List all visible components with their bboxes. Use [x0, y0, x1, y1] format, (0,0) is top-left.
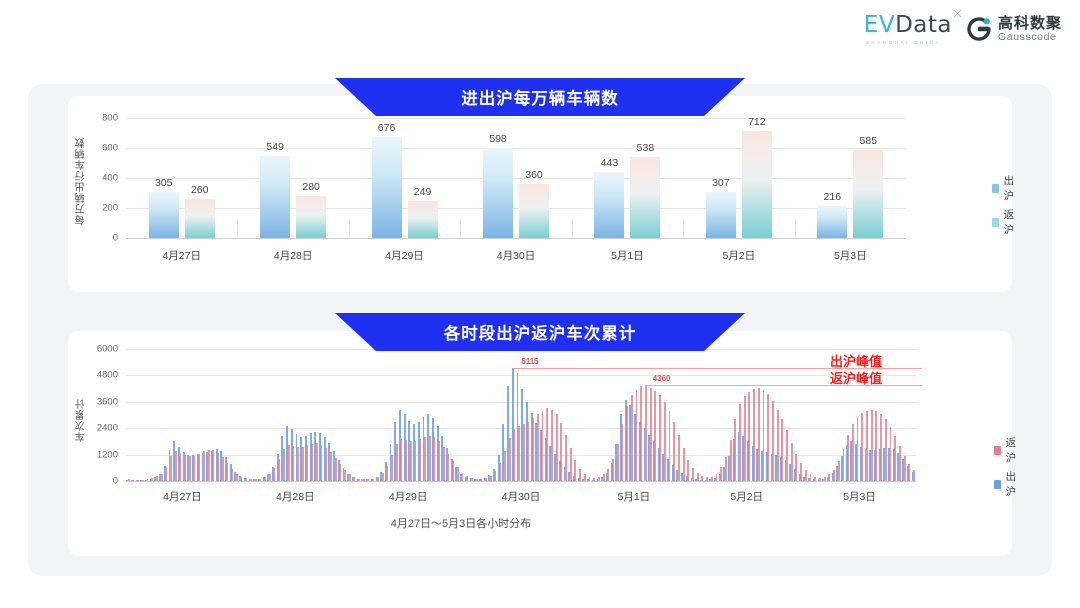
chart2-bar-ret: [302, 447, 304, 481]
chart2-bar-ret: [894, 436, 896, 481]
chart2-bar-ret: [377, 477, 379, 481]
chart2-bar-ret: [382, 473, 384, 481]
chart2-bar-ret: [165, 467, 167, 481]
chart2-bar-ret: [349, 474, 351, 481]
chart2-bar-ret: [208, 450, 210, 481]
chart2-bar-ret: [885, 419, 887, 481]
chart1-bar-out: [706, 192, 736, 238]
chart2-bar-ret: [245, 478, 247, 481]
chart1-bar-ret: [742, 131, 772, 238]
chart2-bar-ret: [274, 468, 276, 481]
chart2-bar-ret: [626, 406, 628, 481]
chart2-bar-ret: [476, 479, 478, 481]
chart2-bar-ret: [669, 411, 671, 481]
chart2-y-tick: 0: [76, 476, 118, 487]
chart2-bar-ret: [758, 388, 760, 482]
chart2-x-tick: 5月1日: [618, 489, 651, 504]
chart2-bar-ret: [734, 419, 736, 481]
chart2-bar-ret: [673, 422, 675, 481]
chart2-bar-ret: [372, 479, 374, 481]
chart2-bar-ret: [231, 469, 233, 481]
gausscode-cn: 高科数聚: [998, 16, 1062, 32]
chart2-bar-ret: [424, 437, 426, 481]
chart1-gridline: [126, 178, 906, 179]
chart2-bar-ret: [306, 445, 308, 481]
chart1-x-tick: 4月30日: [497, 248, 536, 263]
chart2-annotation-value-1: 4360: [653, 374, 671, 383]
chart2-bar-ret: [147, 479, 149, 481]
chart2-bar-ret: [631, 395, 633, 481]
chart2-bar-ret: [763, 390, 765, 481]
chart2-card: 0120024003600480060004月27日4月28日4月29日4月30…: [68, 331, 1012, 556]
evdata-logo: EVData× SHANGHAI CHINA: [864, 14, 952, 45]
chart2-bar-ret: [217, 453, 219, 481]
chart1-x-separator: [237, 220, 238, 238]
chart2-bar-ret: [589, 477, 591, 481]
chart1-bar-value: 712: [748, 116, 766, 128]
chart2-bar-ret: [255, 479, 257, 481]
chart2-x-tick: 4月29日: [389, 489, 428, 504]
chart1-bar-value: 538: [637, 142, 655, 154]
chart2-y-axis-label: 车次累计: [74, 379, 89, 461]
chart2-annotation-value-0: 5115: [521, 357, 538, 366]
chart1-bar-out: [483, 148, 513, 238]
chart2-bar-ret: [325, 448, 327, 481]
chart1-bar-ret: [519, 184, 549, 238]
chart1-x-separator: [572, 220, 573, 238]
chart2-bar-ret: [462, 473, 464, 481]
chart2-bar-ret: [415, 441, 417, 481]
chart2-legend-label-0: 返沪: [1006, 435, 1020, 465]
chart1-bar-value: 260: [191, 184, 209, 196]
chart2-bar-ret: [311, 444, 313, 481]
chart2-bar-ret: [795, 454, 797, 482]
evdata-wordmark: EVData×: [864, 14, 952, 37]
chart2-bar-ret: [570, 448, 572, 481]
chart2-bar-ret: [386, 466, 388, 481]
chart2-bar-ret: [890, 427, 892, 481]
chart2-bar-ret: [128, 479, 130, 481]
chart2-bar-ret: [701, 476, 703, 481]
chart2-bar-ret: [899, 446, 901, 481]
chart2-bar-ret: [861, 413, 863, 481]
chart2-bar-ret: [433, 437, 435, 481]
chart2-bar-ret: [335, 458, 337, 481]
chart2-bar-ret: [485, 478, 487, 481]
chart2-x-tick: 4月28日: [276, 489, 315, 504]
chart1-bar-value: 585: [860, 135, 878, 147]
chart2-bar-ret: [466, 476, 468, 481]
chart2-bar-ret: [203, 451, 205, 481]
chart1-x-tick: 5月3日: [834, 248, 867, 263]
chart2-bar-ret: [222, 457, 224, 481]
chart2-bar-ret: [664, 402, 666, 481]
chart2-bar-ret: [838, 461, 840, 481]
chart2-bar-ret: [565, 435, 567, 481]
chart1-bar-ret: [185, 199, 215, 238]
chart1-bar-out: [149, 192, 179, 238]
chart2-bar-ret: [269, 474, 271, 481]
chart1-x-separator: [460, 220, 461, 238]
chart2-bar-ret: [179, 453, 181, 481]
chart2-bar-ret: [598, 477, 600, 481]
chart1-legend-label-1: 返沪: [1004, 207, 1018, 237]
chart2-legend-item-1[interactable]: 出沪: [994, 469, 1020, 499]
chart1-x-separator: [349, 220, 350, 238]
chart1-bar-value: 307: [712, 177, 730, 189]
chart2-bar-ret: [843, 449, 845, 481]
chart2-bar-ret: [537, 414, 539, 481]
chart1-legend: 出沪返沪: [992, 173, 1018, 241]
chart2-bar-ret: [659, 395, 661, 481]
chart2-bar-ret: [584, 474, 586, 481]
chart2-bar-ret: [753, 389, 755, 481]
chart1-legend-label-0: 出沪: [1004, 173, 1018, 203]
chart2-bar-ret: [678, 435, 680, 481]
chart2-bar-ret: [363, 479, 365, 481]
chart1-gridline: [126, 148, 906, 149]
chart1-y-tick: 800: [76, 113, 118, 124]
chart2-bar-ret: [908, 464, 910, 481]
chart1-banner-title: 进出沪每万辆车辆数: [335, 78, 745, 116]
brand-header: EVData× SHANGHAI CHINA 高科数聚 Gausscode: [864, 14, 1062, 45]
chart2-bar-ret: [509, 438, 511, 481]
chart2-bar-ret: [551, 410, 553, 482]
chart2-bar-ret: [194, 456, 196, 481]
chart1-x-separator: [795, 220, 796, 238]
chart2-bar-ret: [546, 408, 548, 481]
chart2-bar-ret: [400, 439, 402, 481]
chart1-bar-value: 443: [601, 157, 619, 169]
chart1-bar-out: [594, 172, 624, 238]
chart2-x-tick: 5月3日: [843, 489, 876, 504]
chart1-bar-out: [260, 156, 290, 238]
chart1-bar-ret: [408, 201, 438, 238]
chart1-card: 02004006008003052604月27日5492804月28日67624…: [68, 96, 1012, 292]
chart1-bar-value: 549: [266, 141, 284, 153]
chart1-legend-item-0[interactable]: 出沪: [992, 173, 1018, 203]
chart1-x-tick: 4月29日: [385, 248, 424, 263]
chart2-bar-ret: [786, 430, 788, 481]
chart2-bar-ret: [706, 477, 708, 481]
chart2-bar-ret: [490, 476, 492, 481]
evdata-x-icon: ×: [952, 7, 964, 21]
chart2-bar-ret: [805, 470, 807, 481]
chart2-bar-ret: [212, 450, 214, 481]
chart2-bar-ret: [654, 391, 656, 481]
chart2-bar-ret: [857, 417, 859, 481]
chart2-bar-ret: [697, 473, 699, 481]
chart2-bar-ret: [344, 470, 346, 481]
chart1-x-separator: [683, 220, 684, 238]
chart2-bar-ret: [767, 394, 769, 481]
chart1-legend-swatch-1: [992, 218, 999, 227]
chart2-bar-ret: [725, 457, 727, 481]
chart1-bar-value: 280: [302, 181, 320, 193]
chart2-x-tick: 4月30日: [502, 489, 541, 504]
chart2-bar-ret: [913, 470, 915, 481]
chart2-bar-ret: [720, 467, 722, 481]
chart1-y-axis-label: 每万辆出行车辆数: [74, 126, 89, 236]
chart2-bar-ret: [781, 419, 783, 481]
chart2-bar-ret: [636, 390, 638, 481]
chart2-bar-ret: [603, 474, 605, 481]
chart2-bar-ret: [405, 440, 407, 481]
chart2-bar-ret: [744, 396, 746, 481]
chart2-bar-ret: [650, 388, 652, 482]
chart2-bar-ret: [814, 477, 816, 481]
chart1-gridline: [126, 208, 906, 209]
chart2-bar-ret: [523, 424, 525, 481]
chart2-bar-ret: [875, 411, 877, 481]
chart2-bar-ret: [716, 474, 718, 481]
chart2-bar-ret: [236, 474, 238, 481]
chart2-bar-ret: [175, 451, 177, 481]
chart1-bar-value: 249: [414, 186, 432, 198]
chart2-bar-ret: [645, 385, 647, 481]
chart2-bar-ret: [189, 456, 191, 481]
chart2-bar-ret: [739, 404, 741, 481]
chart2-bar-ret: [495, 471, 497, 481]
chart2-legend-swatch-0: [994, 446, 1001, 455]
chart2-banner-title: 各时段出沪返沪车次累计: [335, 313, 745, 351]
chart2-gridline: [126, 375, 916, 376]
chart2-bar-ret: [452, 461, 454, 481]
chart2-bar-ret: [847, 435, 849, 481]
gausscode-mark-icon: [966, 16, 992, 42]
chart1-bar-out: [817, 206, 847, 238]
chart2-x-axis-title: 4月27日～5月3日各小时分布: [391, 515, 532, 531]
chart2-bar-ret: [259, 479, 261, 481]
chart2-bar-ret: [264, 477, 266, 481]
chart2-bar-ret: [711, 477, 713, 481]
chart2-bar-ret: [574, 460, 576, 481]
chart2-plot-area: 0120024003600480060004月27日4月28日4月29日4月30…: [126, 349, 916, 481]
chart2-bar-ret: [810, 474, 812, 481]
chart2-bar-ret: [748, 392, 750, 481]
chart1-bar-ret: [853, 150, 883, 238]
chart2-bar-ret: [828, 474, 830, 481]
chart2-bar-ret: [316, 443, 318, 481]
chart2-bar-ret: [156, 476, 158, 481]
chart2-bar-ret: [358, 479, 360, 481]
chart2-bar-ret: [250, 479, 252, 481]
chart1-bar-value: 305: [155, 177, 173, 189]
chart2-bar-ret: [612, 459, 614, 481]
chart2-bar-ret: [241, 477, 243, 481]
chart2-bar-ret: [443, 447, 445, 481]
chart2-bar-ret: [368, 479, 370, 481]
chart2-bar-ret: [556, 414, 558, 481]
chart2-bar-ret: [419, 439, 421, 481]
chart2-bar-ret: [471, 478, 473, 481]
chart2-bar-ret: [132, 480, 134, 481]
chart2-x-axis-line: [126, 481, 916, 482]
gausscode-text: 高科数聚 Gausscode: [998, 16, 1062, 43]
chart2-bar-ret: [683, 448, 685, 481]
chart2-bar-ret: [791, 443, 793, 482]
chart2-bar-ret: [824, 477, 826, 481]
chart1-bar-ret: [630, 157, 660, 238]
chart1-bar-value: 598: [489, 133, 507, 145]
chart2-bar-ret: [151, 478, 153, 481]
chart1-legend-item-1[interactable]: 返沪: [992, 207, 1018, 237]
chart2-bar-ret: [687, 460, 689, 481]
chart2-legend-item-0[interactable]: 返沪: [994, 435, 1020, 465]
chart2-bar-ret: [621, 424, 623, 481]
chart2-bar-ret: [278, 459, 280, 481]
chart1-x-tick: 4月28日: [274, 248, 313, 263]
chart1-x-axis-line: [126, 238, 906, 239]
chart2-bar-ret: [170, 456, 172, 481]
chart2-x-tick: 5月2日: [730, 489, 763, 504]
chart1-plot-area: 02004006008003052604月27日5492804月28日67624…: [126, 118, 906, 238]
chart2-bar-ret: [692, 468, 694, 481]
chart2-bar-ret: [833, 470, 835, 481]
chart2-bar-ret: [321, 445, 323, 481]
chart2-bar-ret: [499, 463, 501, 481]
chart2-bar-ret: [518, 426, 520, 481]
chart2-bar-ret: [880, 414, 882, 481]
chart2-annotation-label-1: 返沪峰值: [830, 368, 882, 387]
chart2-bar-ret: [819, 478, 821, 481]
chart2-bar-ret: [429, 436, 431, 481]
chart2-bar-ret: [297, 447, 299, 481]
chart2-bar-ret: [283, 449, 285, 481]
chart1-x-tick: 4月27日: [162, 248, 201, 263]
chart2-bar-ret: [513, 429, 515, 481]
evdata-wordmark-data: Data: [895, 12, 952, 38]
chart2-bar-ret: [161, 474, 163, 481]
chart2-bar-ret: [504, 451, 506, 481]
chart1-bar-ret: [296, 196, 326, 238]
chart1-legend-swatch-0: [992, 184, 999, 193]
chart2-bar-ret: [871, 410, 873, 482]
chart2-bar-ret: [560, 423, 562, 481]
chart1-bar-value: 676: [378, 122, 396, 134]
chart2-bar-ret: [617, 444, 619, 481]
chart2-bar-ret: [532, 418, 534, 481]
chart1-gridline: [126, 118, 906, 119]
chart2-bar-ret: [288, 445, 290, 481]
chart2-y-tick: 6000: [76, 344, 118, 355]
chart2-bar-ret: [730, 440, 732, 481]
chart2-x-tick: 4月27日: [163, 489, 202, 504]
chart1-x-tick: 5月2日: [723, 248, 756, 263]
chart2-bar-ret: [339, 464, 341, 481]
chart2-bar-ret: [226, 463, 228, 481]
evdata-tagline: SHANGHAI CHINA: [866, 40, 941, 45]
chart1-bar-value: 216: [824, 191, 842, 203]
chart2-bar-ret: [330, 452, 332, 481]
chart2-legend-label-1: 出沪: [1006, 469, 1020, 499]
chart2-bar-ret: [353, 477, 355, 481]
chart2-bar-ret: [607, 469, 609, 481]
chart2-bar-ret: [579, 469, 581, 481]
chart2-bar-ret: [410, 441, 412, 481]
chart2-bar-ret: [292, 446, 294, 481]
chart1-bar-value: 360: [525, 169, 543, 181]
chart2-bar-ret: [391, 455, 393, 481]
chart2-bar-ret: [198, 454, 200, 482]
chart1-bar-out: [372, 137, 402, 238]
gausscode-logo: 高科数聚 Gausscode: [966, 16, 1062, 43]
chart2-bar-ret: [527, 422, 529, 481]
chart2-bar-ret: [800, 463, 802, 481]
gausscode-en: Gausscode: [998, 32, 1062, 43]
chart2-bar-ret: [640, 386, 642, 481]
chart2-bar-ret: [137, 480, 139, 481]
chart1-x-tick: 5月1日: [611, 248, 644, 263]
chart2-bar-ret: [904, 456, 906, 481]
chart2-bar-ret: [184, 455, 186, 481]
chart2-bar-ret: [852, 424, 854, 481]
chart2-bar-ret: [480, 479, 482, 481]
chart2-bar-ret: [457, 467, 459, 481]
chart2-bar-ret: [866, 411, 868, 481]
chart2-bar-ret: [593, 478, 595, 481]
chart2-bar-ret: [777, 410, 779, 482]
chart2-bar-ret: [142, 480, 144, 481]
chart2-bar-ret: [772, 401, 774, 481]
chart2-bar-ret: [396, 444, 398, 481]
chart2-legend-swatch-1: [994, 480, 1001, 489]
chart2-bar-ret: [448, 454, 450, 482]
chart2-legend: 返沪出沪: [994, 435, 1020, 503]
chart2-bar-ret: [542, 411, 544, 481]
evdata-wordmark-ev: EV: [864, 12, 895, 38]
chart2-bar-ret: [438, 441, 440, 481]
